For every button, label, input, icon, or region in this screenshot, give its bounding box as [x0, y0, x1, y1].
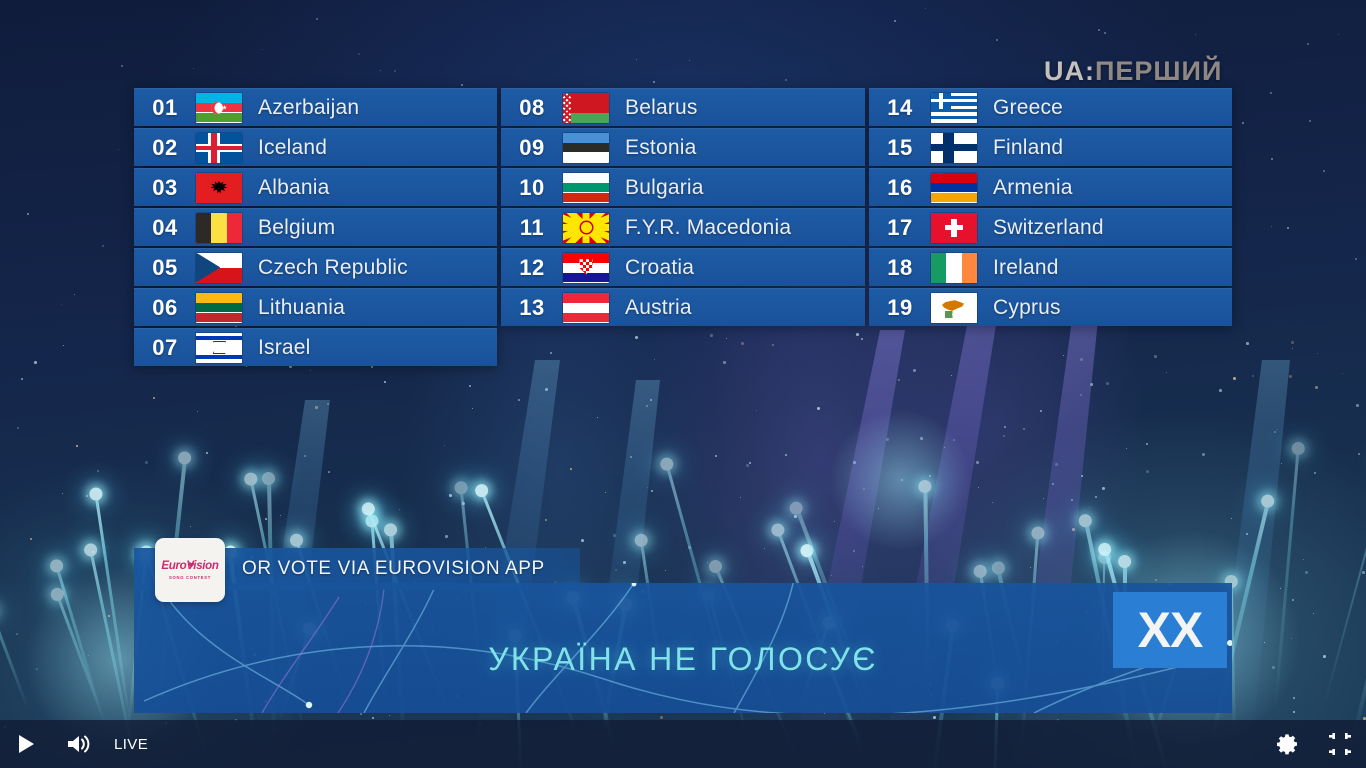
- running-order-country: Albania: [258, 176, 329, 200]
- running-order-row: 19Cyprus: [869, 288, 1232, 326]
- channel-name: ПЕРШИЙ: [1095, 56, 1222, 86]
- running-order-country: Iceland: [258, 136, 327, 160]
- running-order-row: 05Czech Republic: [134, 248, 497, 286]
- running-order-row: 01Azerbaijan: [134, 88, 497, 126]
- running-order-column-2: 08Belarus09Estonia10Bulgaria11F.Y.R. Mac…: [501, 88, 865, 366]
- flag-be-icon: [196, 213, 242, 243]
- running-order-number: 18: [869, 255, 931, 281]
- eurovision-logo: EuroVision SONG CONTEST: [155, 538, 225, 602]
- running-order-number: 06: [134, 295, 196, 321]
- xx-badge-label: XX: [1138, 601, 1203, 659]
- running-order-country: Finland: [993, 136, 1063, 160]
- flag-ch-icon: [931, 213, 977, 243]
- running-order-country: Austria: [625, 296, 692, 320]
- running-order-number: 08: [501, 95, 563, 121]
- running-order-number: 13: [501, 295, 563, 321]
- play-icon: [19, 735, 34, 753]
- running-order-row: 11F.Y.R. Macedonia: [501, 208, 865, 246]
- running-order-number: 10: [501, 175, 563, 201]
- exit-fullscreen-icon: [1329, 733, 1351, 755]
- flag-il-icon: [196, 333, 242, 363]
- channel-watermark: UA:ПЕРШИЙ: [1044, 56, 1222, 87]
- running-order-country: Croatia: [625, 256, 694, 280]
- flag-al-icon: [196, 173, 242, 203]
- running-order-row: 14Greece: [869, 88, 1232, 126]
- channel-prefix: UA:: [1044, 56, 1095, 86]
- running-order-country: Czech Republic: [258, 256, 408, 280]
- running-order-row: 10Bulgaria: [501, 168, 865, 206]
- running-order-country: Ireland: [993, 256, 1059, 280]
- eurovision-logo-subtitle: SONG CONTEST: [169, 575, 211, 580]
- running-order-number: 05: [134, 255, 196, 281]
- vote-app-text: OR VOTE VIA EUROVISION APP: [242, 558, 545, 580]
- running-order-number: 17: [869, 215, 931, 241]
- flag-am-icon: [931, 173, 977, 203]
- flag-ee-icon: [563, 133, 609, 163]
- running-order-row: 12Croatia: [501, 248, 865, 286]
- flag-hr-icon: [563, 253, 609, 283]
- running-order-country: Greece: [993, 96, 1063, 120]
- running-order-number: 16: [869, 175, 931, 201]
- running-order-row: 16Armenia: [869, 168, 1232, 206]
- running-order-country: Cyprus: [993, 296, 1061, 320]
- running-order-row: 18Ireland: [869, 248, 1232, 286]
- running-order-country: Armenia: [993, 176, 1073, 200]
- running-order-number: 09: [501, 135, 563, 161]
- gear-icon: [1276, 732, 1300, 756]
- flag-fi-icon: [931, 133, 977, 163]
- settings-button[interactable]: [1262, 720, 1314, 768]
- running-order-number: 19: [869, 295, 931, 321]
- running-order-country: Azerbaijan: [258, 96, 359, 120]
- running-order-number: 15: [869, 135, 931, 161]
- running-order-country: Bulgaria: [625, 176, 704, 200]
- running-order-row: 08Belarus: [501, 88, 865, 126]
- running-order-row: 13Austria: [501, 288, 865, 326]
- heart-icon: [188, 562, 194, 568]
- flag-at-icon: [563, 293, 609, 323]
- flag-ie-icon: [931, 253, 977, 283]
- running-order-row: 04Belgium: [134, 208, 497, 246]
- running-order-row: 07Israel: [134, 328, 497, 366]
- running-order-row: 15Finland: [869, 128, 1232, 166]
- running-order-country: Switzerland: [993, 216, 1104, 240]
- running-order-country: Belgium: [258, 216, 335, 240]
- running-order-number: 07: [134, 335, 196, 361]
- flag-is-icon: [196, 133, 242, 163]
- running-order-number: 04: [134, 215, 196, 241]
- eurovision-logo-word: EuroVision: [161, 561, 218, 573]
- running-order-number: 14: [869, 95, 931, 121]
- exit-fullscreen-button[interactable]: [1314, 720, 1366, 768]
- live-indicator-label: LIVE: [114, 736, 148, 753]
- flag-bg-icon: [563, 173, 609, 203]
- flag-mk-icon: [563, 213, 609, 243]
- running-order-column-1: 01Azerbaijan02Iceland03Albania04Belgium0…: [134, 88, 497, 366]
- running-order-row: 02Iceland: [134, 128, 497, 166]
- running-order-table: 01Azerbaijan02Iceland03Albania04Belgium0…: [134, 88, 1232, 366]
- xx-badge: XX: [1113, 592, 1227, 668]
- running-order-row: 09Estonia: [501, 128, 865, 166]
- running-order-row: 06Lithuania: [134, 288, 497, 326]
- running-order-column-3: 14Greece15Finland16Armenia17Switzerland1…: [869, 88, 1232, 366]
- flag-by-icon: [563, 93, 609, 123]
- running-order-number: 12: [501, 255, 563, 281]
- running-order-number: 01: [134, 95, 196, 121]
- flag-cy-icon: [931, 293, 977, 323]
- volume-button[interactable]: [52, 720, 104, 768]
- player-control-bar[interactable]: LIVE: [0, 720, 1366, 768]
- running-order-number: 11: [501, 215, 563, 241]
- running-order-country: Israel: [258, 336, 311, 360]
- flag-lt-icon: [196, 293, 242, 323]
- running-order-country: F.Y.R. Macedonia: [625, 216, 791, 240]
- running-order-row: 17Switzerland: [869, 208, 1232, 246]
- flag-gr-icon: [931, 93, 977, 123]
- play-button[interactable]: [0, 720, 52, 768]
- running-order-row: 03Albania: [134, 168, 497, 206]
- flag-cz-icon: [196, 253, 242, 283]
- running-order-country: Belarus: [625, 96, 698, 120]
- volume-icon: [66, 733, 90, 755]
- flag-az-icon: [196, 93, 242, 123]
- running-order-country: Lithuania: [258, 296, 345, 320]
- running-order-country: Estonia: [625, 136, 696, 160]
- running-order-number: 03: [134, 175, 196, 201]
- running-order-number: 02: [134, 135, 196, 161]
